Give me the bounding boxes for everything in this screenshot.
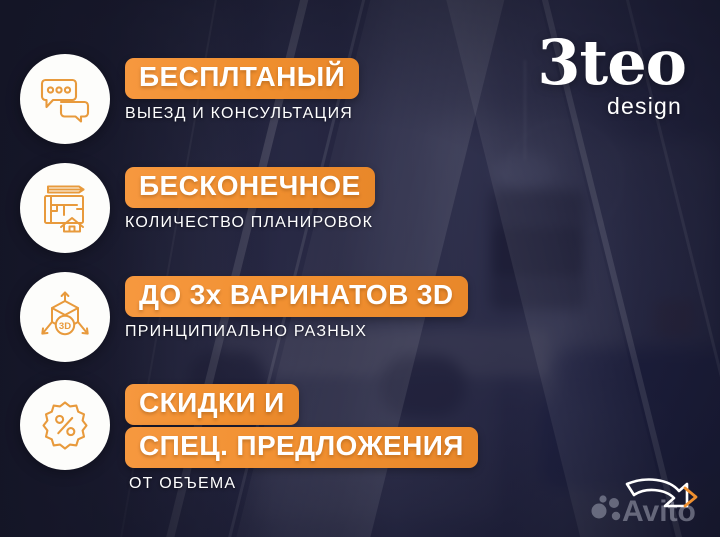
brand-logo: 3teo design (537, 34, 686, 120)
chat-bubbles-icon (20, 54, 110, 144)
feature-subtitle: ОТ ОБЪЕМА (129, 475, 478, 493)
badge-stack: БЕСКОНЕЧНОЕ (125, 167, 375, 208)
feature-item-3d-variants: 3D ДО 3х ВАРИНАТОВ 3D ПРИНЦИПИАЛЬНО РАЗН… (20, 272, 468, 362)
discount-percent-badge-icon (20, 380, 110, 470)
feature-text-block: ДО 3х ВАРИНАТОВ 3D ПРИНЦИПИАЛЬНО РАЗНЫХ (125, 272, 468, 341)
feature-item-unlimited-plans: БЕСКОНЕЧНОЕ КОЛИЧЕСТВО ПЛАНИРОВОК (20, 163, 375, 253)
floorplan-blueprint-icon (20, 163, 110, 253)
feature-badge: ДО 3х ВАРИНАТОВ 3D (125, 276, 468, 317)
cube-3d-icon: 3D (20, 272, 110, 362)
badge-stack: ДО 3х ВАРИНАТОВ 3D (125, 276, 468, 317)
badge-stack: БЕСПЛТАНЫЙ (125, 58, 359, 99)
avito-wordmark: Avito (622, 495, 696, 527)
avito-logo-dots (592, 495, 621, 520)
promo-banner: БЕСПЛТАНЫЙ ВЫЕЗД И КОНСУЛЬТАЦИЯ (0, 0, 720, 537)
badge-stack: СКИДКИ И СПЕЦ. ПРЕДЛОЖЕНИЯ (125, 384, 478, 468)
feature-text-block: БЕСКОНЕЧНОЕ КОЛИЧЕСТВО ПЛАНИРОВОК (125, 163, 375, 232)
feature-badge: БЕСПЛТАНЫЙ (125, 58, 359, 99)
svg-text:3D: 3D (59, 321, 71, 332)
feature-badge-line-1: СКИДКИ И (125, 384, 299, 425)
avito-watermark: Avito (586, 475, 706, 527)
feature-badge: БЕСКОНЕЧНОЕ (125, 167, 375, 208)
feature-text-block: БЕСПЛТАНЫЙ ВЫЕЗД И КОНСУЛЬТАЦИЯ (125, 54, 359, 123)
feature-subtitle: ПРИНЦИПИАЛЬНО РАЗНЫХ (125, 323, 468, 341)
feature-text-block: СКИДКИ И СПЕЦ. ПРЕДЛОЖЕНИЯ ОТ ОБЪЕМА (125, 380, 478, 493)
feature-subtitle: КОЛИЧЕСТВО ПЛАНИРОВОК (125, 214, 375, 232)
feature-badge-line-2: СПЕЦ. ПРЕДЛОЖЕНИЯ (125, 427, 478, 468)
feature-item-discounts: СКИДКИ И СПЕЦ. ПРЕДЛОЖЕНИЯ ОТ ОБЪЕМА (20, 380, 478, 493)
feature-item-free-visit: БЕСПЛТАНЫЙ ВЫЕЗД И КОНСУЛЬТАЦИЯ (20, 54, 359, 144)
feature-subtitle: ВЫЕЗД И КОНСУЛЬТАЦИЯ (125, 105, 359, 123)
brand-logo-mark: 3teo (537, 34, 686, 91)
